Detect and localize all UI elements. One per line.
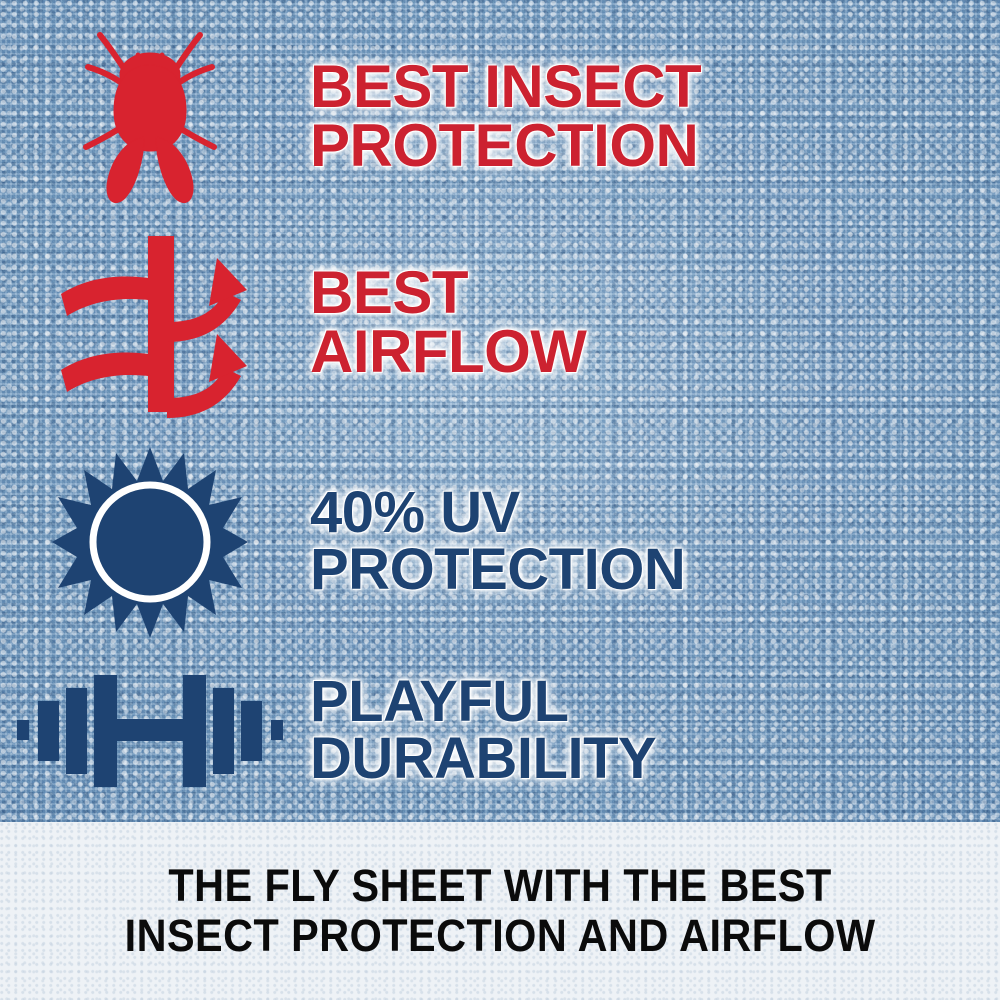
feature-row-airflow: BEST AIRFLOW — [0, 225, 1000, 420]
dumbbell-icon — [15, 663, 285, 798]
feature-icon-cell — [0, 445, 300, 640]
feature-text-cell: PLAYFUL DURABILITY — [300, 674, 1000, 788]
feature-row-uv-protection: 40% UV PROTECTION — [0, 442, 1000, 642]
feature-icon-cell — [0, 663, 300, 798]
feature-label-insect-protection: BEST INSECT PROTECTION — [310, 58, 1000, 176]
feature-row-durability: PLAYFUL DURABILITY — [0, 648, 1000, 813]
feature-label-durability: PLAYFUL DURABILITY — [310, 674, 1000, 788]
feature-text-cell: BEST AIRFLOW — [300, 264, 1000, 382]
feature-text-cell: BEST INSECT PROTECTION — [300, 58, 1000, 176]
feature-icon-cell — [0, 230, 300, 415]
caption-headline: THE FLY SHEET WITH THE BEST INSECT PROTE… — [125, 861, 876, 962]
feature-label-uv-protection: 40% UV PROTECTION — [310, 485, 1000, 599]
feature-label-airflow: BEST AIRFLOW — [310, 264, 1000, 382]
feature-icon-cell — [0, 25, 300, 210]
feature-text-cell: 40% UV PROTECTION — [300, 485, 1000, 599]
fly-icon — [70, 25, 230, 210]
product-feature-poster: BEST INSECT PROTECTION — [0, 0, 1000, 1000]
sun-uv-icon — [50, 445, 250, 640]
feature-row-insect-protection: BEST INSECT PROTECTION — [0, 22, 1000, 212]
caption-bar: THE FLY SHEET WITH THE BEST INSECT PROTE… — [0, 822, 1000, 1000]
airflow-icon — [45, 230, 255, 415]
